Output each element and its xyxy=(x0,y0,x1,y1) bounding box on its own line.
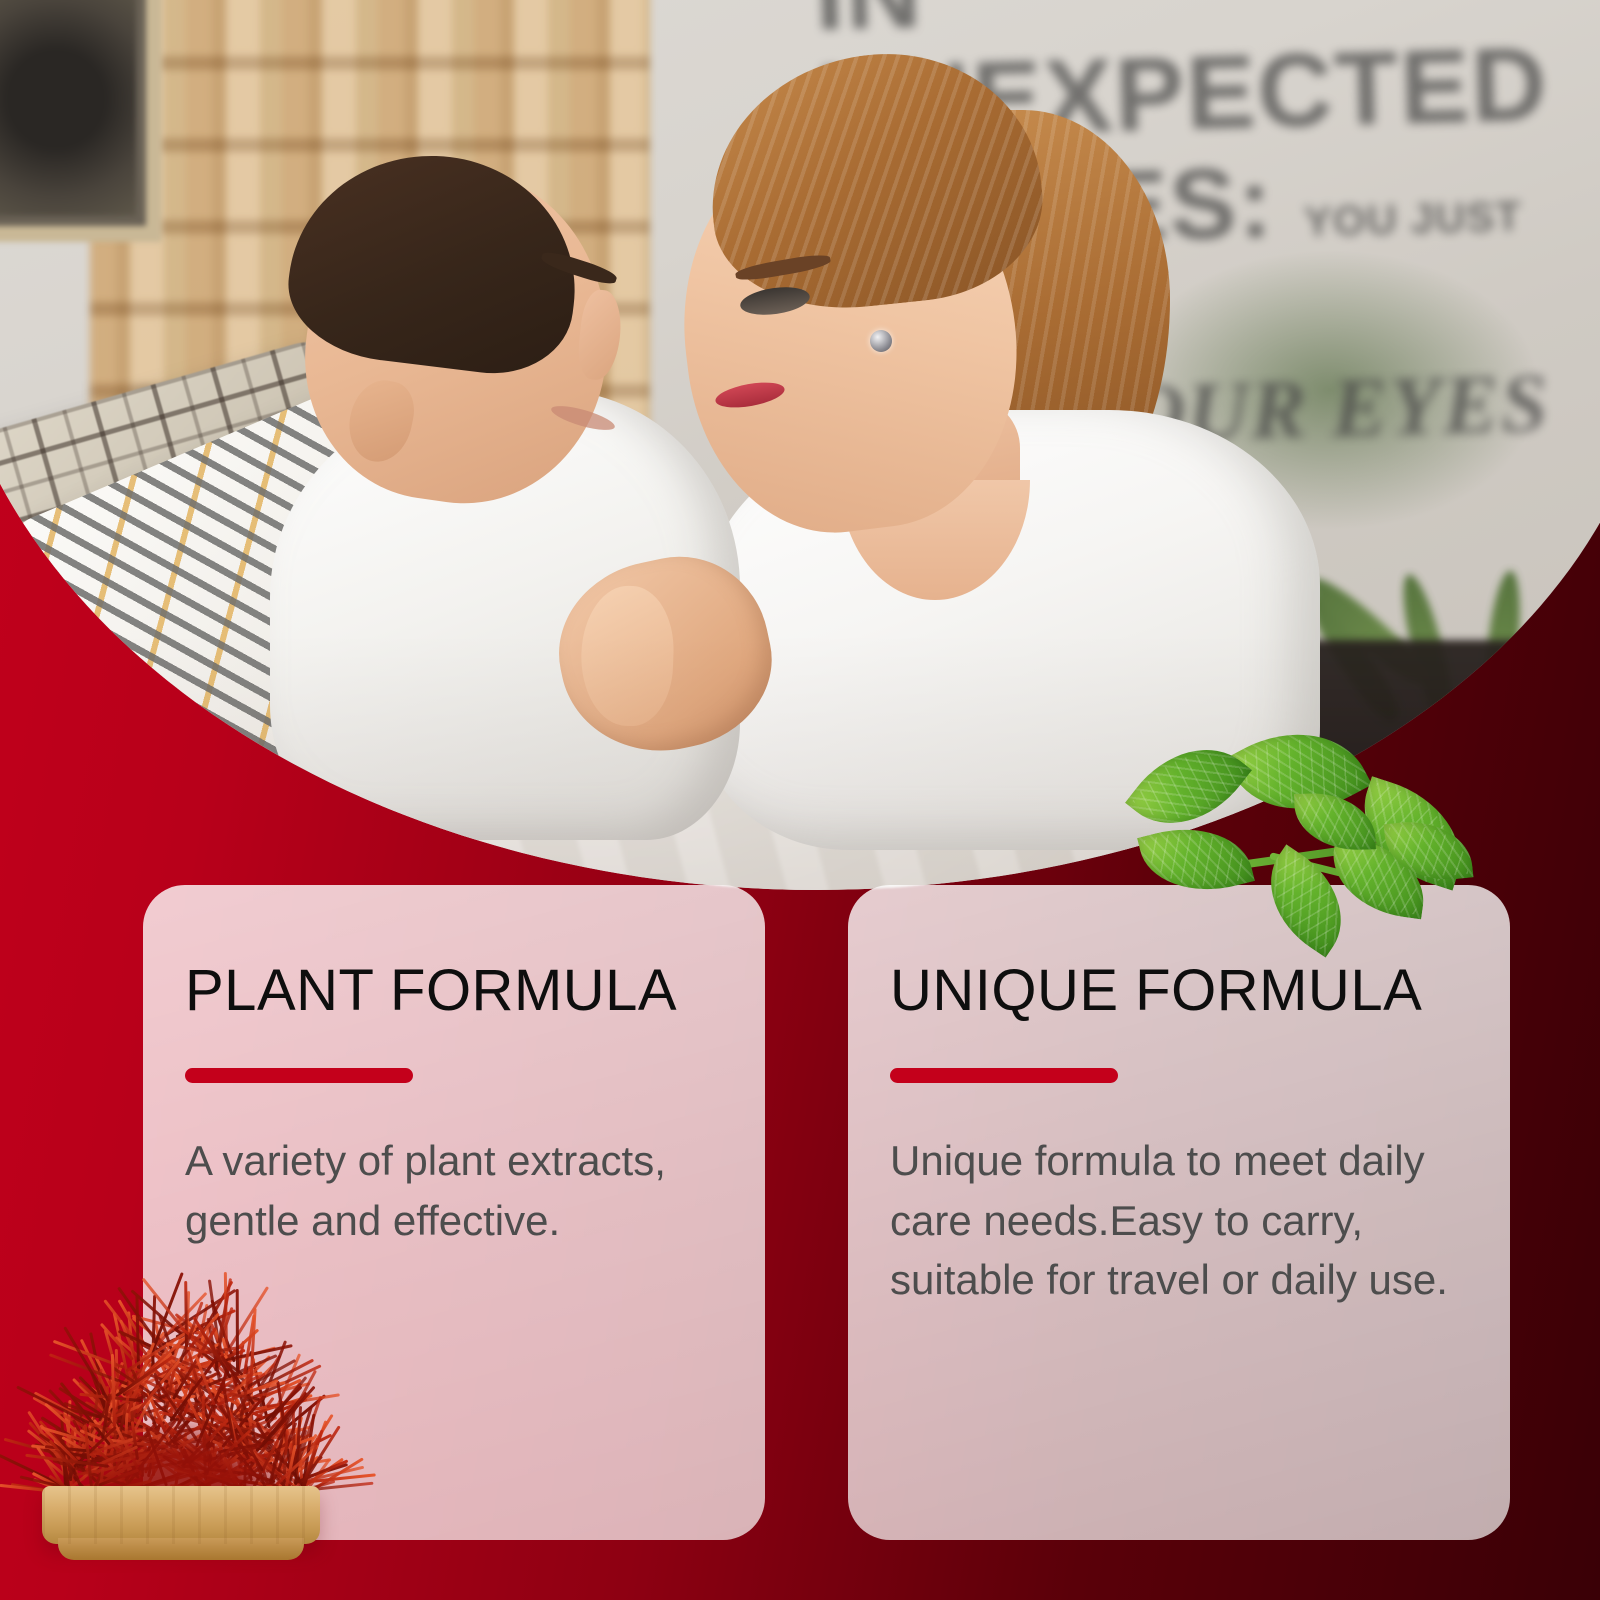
woman-earring xyxy=(870,330,892,352)
banner-root: IN UNEXPECTED PLACES: YOU JUST HAVE TO K… xyxy=(0,0,1600,1600)
feature-card-content: UNIQUE FORMULA Unique formula to meet da… xyxy=(890,961,1474,1352)
feature-card-body: A variety of plant extracts, gentle and … xyxy=(185,1131,729,1250)
mint-leaf xyxy=(1294,791,1376,852)
mint-leaf xyxy=(1137,813,1255,906)
wall-picture-frame xyxy=(0,0,162,242)
feature-card-content: PLANT FORMULA A variety of plant extract… xyxy=(185,961,729,1292)
wooden-tray xyxy=(42,1486,320,1544)
mint-leaves-icon xyxy=(1150,740,1480,935)
feature-card-title: PLANT FORMULA xyxy=(185,961,729,1022)
feature-card-unique-formula: UNIQUE FORMULA Unique formula to meet da… xyxy=(848,885,1510,1540)
feature-card-body: Unique formula to meet daily care needs.… xyxy=(890,1131,1474,1310)
accent-bar xyxy=(890,1068,1118,1083)
saffron-pile xyxy=(62,1330,302,1498)
saffron-threads-icon xyxy=(42,1288,320,1550)
accent-bar xyxy=(185,1068,413,1083)
feature-card-title: UNIQUE FORMULA xyxy=(890,961,1474,1022)
